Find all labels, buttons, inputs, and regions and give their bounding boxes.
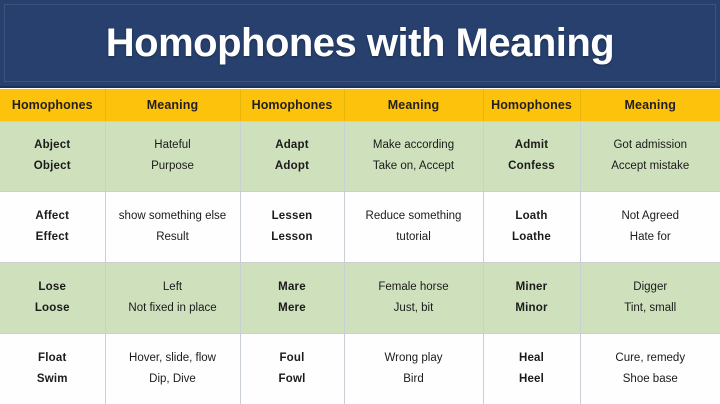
column-header-homophones-3: Homophones [483, 89, 580, 121]
column-header-meaning-3: Meaning [580, 89, 720, 121]
meaning-cell: Digger Tint, small [580, 263, 720, 334]
homophones-poster: Homophones with Meaning Homophones Meani… [0, 0, 720, 404]
table-row: Abject Object Hateful Purpose Adapt Adop… [0, 121, 720, 192]
cell-line-2: Not fixed in place [109, 298, 237, 319]
cell-line-1: Abject [3, 135, 102, 156]
meaning-cell: Reduce something tutorial [344, 192, 483, 263]
table-body: Abject Object Hateful Purpose Adapt Adop… [0, 121, 720, 404]
homophone-pair-cell: Loath Loathe [483, 192, 580, 263]
homophones-table-wrapper: Homophones Meaning Homophones Meaning Ho… [0, 89, 720, 404]
cell-line-2: Shoe base [584, 369, 718, 390]
cell-line-1: Reduce something [348, 206, 480, 227]
cell-line-2: Mere [244, 298, 341, 319]
cell-line-2: Adopt [244, 156, 341, 177]
column-header-homophones-1: Homophones [0, 89, 105, 121]
meaning-cell: Hateful Purpose [105, 121, 240, 192]
cell-line-2: Just, bit [348, 298, 480, 319]
meaning-cell: Got admission Accept mistake [580, 121, 720, 192]
homophone-pair-cell: Affect Effect [0, 192, 105, 263]
homophone-pair-cell: Float Swim [0, 334, 105, 404]
cell-line-1: Affect [3, 206, 102, 227]
meaning-cell: show something else Result [105, 192, 240, 263]
cell-line-2: Take on, Accept [348, 156, 480, 177]
cell-line-2: Hate for [584, 227, 718, 248]
table-row: Affect Effect show something else Result… [0, 192, 720, 263]
table-header: Homophones Meaning Homophones Meaning Ho… [0, 89, 720, 121]
homophone-pair-cell: Lessen Lesson [240, 192, 344, 263]
cell-line-1: Lose [3, 277, 102, 298]
cell-line-1: Cure, remedy [584, 348, 718, 369]
cell-line-1: Hateful [109, 135, 237, 156]
cell-line-1: Digger [584, 277, 718, 298]
cell-line-1: Adapt [244, 135, 341, 156]
homophone-pair-cell: Mare Mere [240, 263, 344, 334]
homophone-pair-cell: Heal Heel [483, 334, 580, 404]
meaning-cell: Not Agreed Hate for [580, 192, 720, 263]
cell-line-2: Purpose [109, 156, 237, 177]
cell-line-2: tutorial [348, 227, 480, 248]
cell-line-2: Lesson [244, 227, 341, 248]
cell-line-2: Loathe [487, 227, 577, 248]
table-row: Lose Loose Left Not fixed in place Mare … [0, 263, 720, 334]
cell-line-1: Miner [487, 277, 577, 298]
cell-line-1: show something else [109, 206, 237, 227]
cell-line-2: Swim [3, 369, 102, 390]
cell-line-2: Result [109, 227, 237, 248]
meaning-cell: Wrong play Bird [344, 334, 483, 404]
homophone-pair-cell: Abject Object [0, 121, 105, 192]
table-row: Float Swim Hover, slide, flow Dip, Dive … [0, 334, 720, 404]
meaning-cell: Hover, slide, flow Dip, Dive [105, 334, 240, 404]
cell-line-1: Heal [487, 348, 577, 369]
meaning-cell: Female horse Just, bit [344, 263, 483, 334]
column-header-meaning-2: Meaning [344, 89, 483, 121]
cell-line-1: Not Agreed [584, 206, 718, 227]
cell-line-1: Female horse [348, 277, 480, 298]
cell-line-2: Confess [487, 156, 577, 177]
homophones-table: Homophones Meaning Homophones Meaning Ho… [0, 89, 720, 404]
cell-line-2: Heel [487, 369, 577, 390]
table-header-row: Homophones Meaning Homophones Meaning Ho… [0, 89, 720, 121]
column-header-meaning-1: Meaning [105, 89, 240, 121]
cell-line-2: Dip, Dive [109, 369, 237, 390]
page-title: Homophones with Meaning [106, 23, 614, 63]
cell-line-1: Left [109, 277, 237, 298]
cell-line-1: Wrong play [348, 348, 480, 369]
homophone-pair-cell: Adapt Adopt [240, 121, 344, 192]
cell-line-1: Got admission [584, 135, 718, 156]
cell-line-1: Admit [487, 135, 577, 156]
cell-line-1: Foul [244, 348, 341, 369]
meaning-cell: Make according Take on, Accept [344, 121, 483, 192]
cell-line-1: Loath [487, 206, 577, 227]
meaning-cell: Cure, remedy Shoe base [580, 334, 720, 404]
cell-line-1: Lessen [244, 206, 341, 227]
homophone-pair-cell: Admit Confess [483, 121, 580, 192]
cell-line-1: Make according [348, 135, 480, 156]
meaning-cell: Left Not fixed in place [105, 263, 240, 334]
column-header-homophones-2: Homophones [240, 89, 344, 121]
homophone-pair-cell: Lose Loose [0, 263, 105, 334]
cell-line-1: Float [3, 348, 102, 369]
cell-line-2: Bird [348, 369, 480, 390]
homophone-pair-cell: Foul Fowl [240, 334, 344, 404]
cell-line-1: Mare [244, 277, 341, 298]
cell-line-2: Tint, small [584, 298, 718, 319]
cell-line-2: Effect [3, 227, 102, 248]
homophone-pair-cell: Miner Minor [483, 263, 580, 334]
cell-line-2: Minor [487, 298, 577, 319]
cell-line-2: Object [3, 156, 102, 177]
cell-line-2: Fowl [244, 369, 341, 390]
cell-line-1: Hover, slide, flow [109, 348, 237, 369]
cell-line-2: Loose [3, 298, 102, 319]
poster-title-bar: Homophones with Meaning [0, 0, 720, 88]
cell-line-2: Accept mistake [584, 156, 718, 177]
